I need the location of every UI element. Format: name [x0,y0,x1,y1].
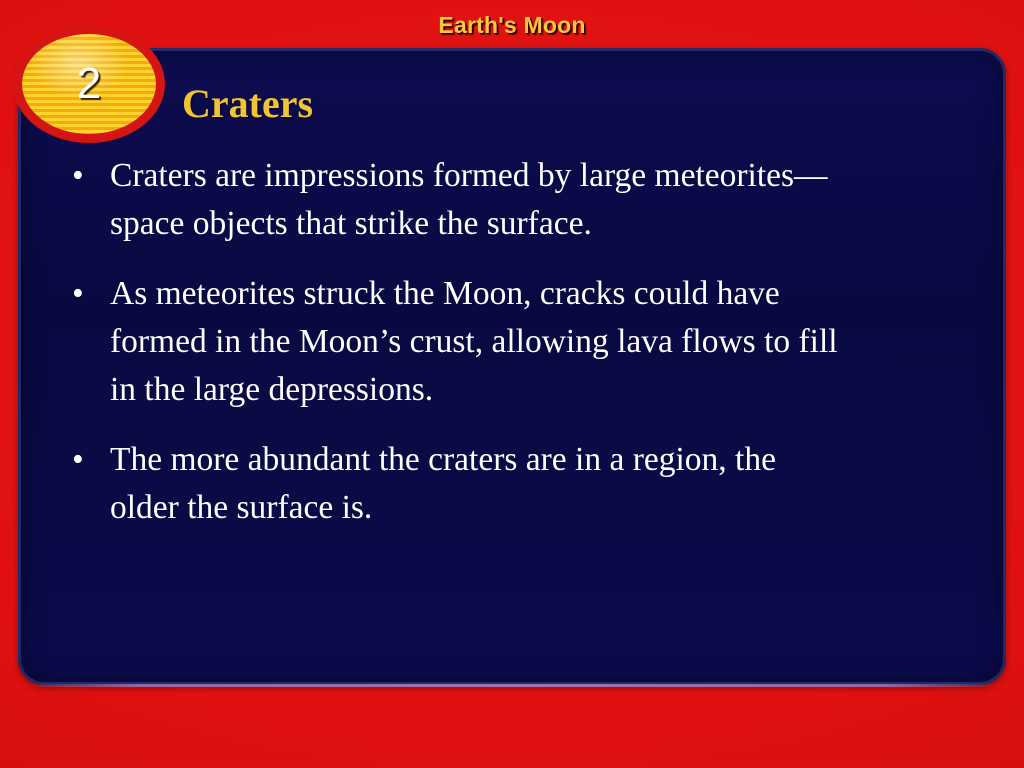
page-title: Craters [182,80,313,127]
bullet-marker-icon: • [72,436,84,484]
bullet-marker-icon: • [72,152,84,200]
list-item-text: Craters are impressions formed by large … [110,152,870,248]
slide-header-title: Earth's Moon [0,12,1024,39]
list-item: • As meteorites struck the Moon, cracks … [62,270,942,414]
panel-underline-divider [22,684,1002,687]
list-item: • Craters are impressions formed by larg… [62,152,942,248]
list-item-text: The more abundant the craters are in a r… [110,436,840,532]
list-item-text: As meteorites struck the Moon, cracks co… [110,270,850,414]
presentation-slide: Earth's Moon 2 Craters • Craters are imp… [0,0,1024,768]
list-item: • The more abundant the craters are in a… [62,436,942,532]
bullet-marker-icon: • [72,270,84,318]
bottom-toolbar: ? CHAPTER RESOURCES [0,690,1024,768]
section-number-badge: 2 [22,34,156,134]
bullet-list: • Craters are impressions formed by larg… [62,152,942,532]
section-number-label: 2 [77,62,101,106]
